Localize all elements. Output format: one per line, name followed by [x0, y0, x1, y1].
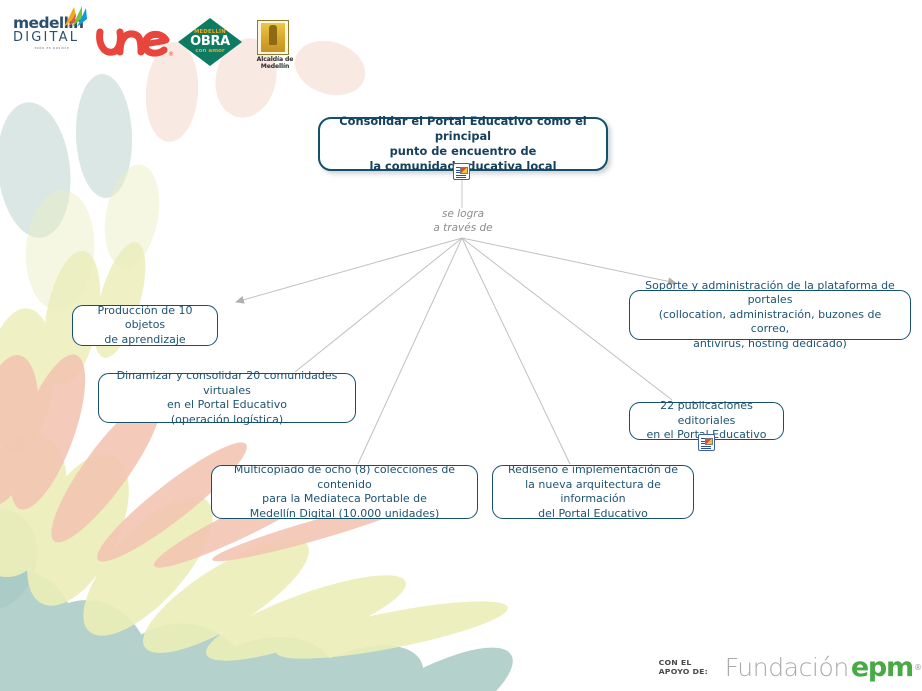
footer-brand-fundacion: Fundación — [725, 653, 849, 682]
hub-label: se logra a través de — [400, 208, 526, 235]
node-produccion-objetos-text: Producción de 10 objetos de aprendizaje — [81, 304, 209, 348]
footer-sponsor-credit: CON EL APOYO DE: Fundación epm ® — [660, 650, 922, 684]
note-icon-thumbnail — [705, 438, 713, 446]
hub-label-text: se logra a través de — [433, 208, 492, 234]
note-icon-thumbnail — [460, 167, 468, 175]
footer-support-prefix: CON EL APOYO DE: — [659, 658, 719, 676]
diagram-canvas: medellin DIGITAL todo es posible ® MEDEL… — [0, 0, 922, 691]
note-icon-line — [456, 177, 466, 178]
footer-brand-epm: epm — [851, 652, 913, 683]
note-icon-line — [456, 175, 466, 176]
node-dinamizar-comunidades[interactable]: Dinamizar y consolidar 20 comunidades vi… — [98, 373, 356, 423]
note-document-icon[interactable] — [698, 434, 715, 451]
node-dinamizar-comunidades-text: Dinamizar y consolidar 20 comunidades vi… — [107, 369, 347, 427]
note-icon-line — [701, 448, 711, 449]
node-rediseno-arquitectura-text: Rediseño e implementación de la nueva ar… — [501, 463, 685, 521]
footer-registered-mark: ® — [914, 663, 922, 672]
node-soporte-plataforma-text: Soporte y administración de la plataform… — [638, 279, 902, 352]
note-document-icon[interactable] — [453, 163, 470, 180]
note-icon-line — [701, 446, 711, 447]
node-soporte-plataforma[interactable]: Soporte y administración de la plataform… — [629, 290, 911, 340]
node-produccion-objetos[interactable]: Producción de 10 objetos de aprendizaje — [72, 305, 218, 346]
node-multicopiado-colecciones-text: Multicopiado de ocho (8) colecciones de … — [220, 463, 469, 521]
node-rediseno-arquitectura[interactable]: Rediseño e implementación de la nueva ar… — [492, 465, 694, 519]
node-multicopiado-colecciones[interactable]: Multicopiado de ocho (8) colecciones de … — [211, 465, 478, 519]
